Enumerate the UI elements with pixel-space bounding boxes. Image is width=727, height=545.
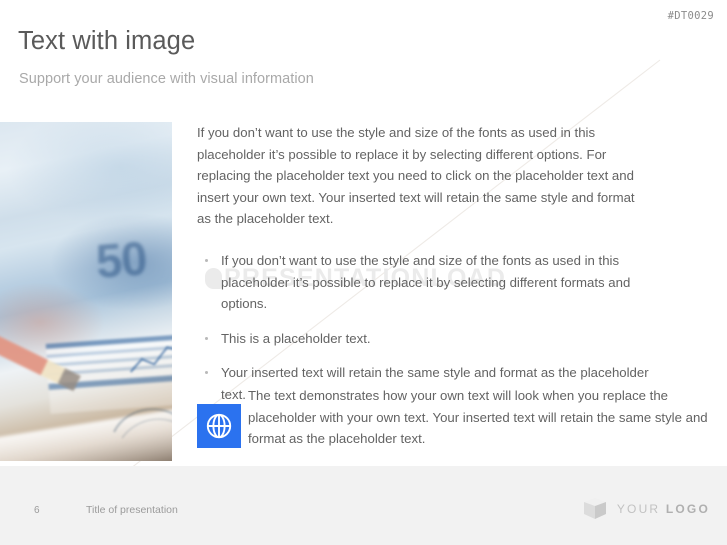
slide: #DT0029 Text with image Support your aud… [0,0,727,545]
icon-block-text: The text demonstrates how your own text … [248,385,713,450]
intro-paragraph: If you don’t want to use the style and s… [197,122,649,230]
logo[interactable]: YOUR LOGO [582,496,710,522]
page-title: Text with image [18,27,195,56]
logo-text: YOUR LOGO [617,502,710,516]
page-number: 6 [34,505,40,516]
body-content: If you don’t want to use the style and s… [197,122,713,406]
footer-presentation-title: Title of presentation [86,504,178,516]
photo-line-graph [127,342,172,380]
page-subtitle: Support your audience with visual inform… [19,71,314,87]
logo-word-light: YOUR [617,502,660,516]
list-item: This is a placeholder text. [197,328,664,350]
slide-footer: 6 Title of presentation YOUR LOGO [0,466,727,545]
list-item-text: If you don’t want to use the style and s… [221,253,630,311]
globe-icon[interactable] [197,404,241,448]
list-item-text: This is a placeholder text. [221,331,371,346]
icon-text-block: The text demonstrates how your own text … [197,385,713,450]
bullet-dot-icon [205,259,208,262]
list-item: If you don’t want to use the style and s… [197,250,664,315]
photo-banknote-numeral: 50 [94,230,148,288]
bullet-list: If you don’t want to use the style and s… [197,250,713,406]
bullet-dot-icon [205,337,208,340]
slide-photo: 50 [0,122,172,461]
template-id-label: #DT0029 [668,10,714,22]
photo-curve-detail [108,398,172,442]
bullet-dot-icon [205,371,208,374]
cube-icon [582,496,608,522]
logo-word-bold: LOGO [666,502,710,516]
